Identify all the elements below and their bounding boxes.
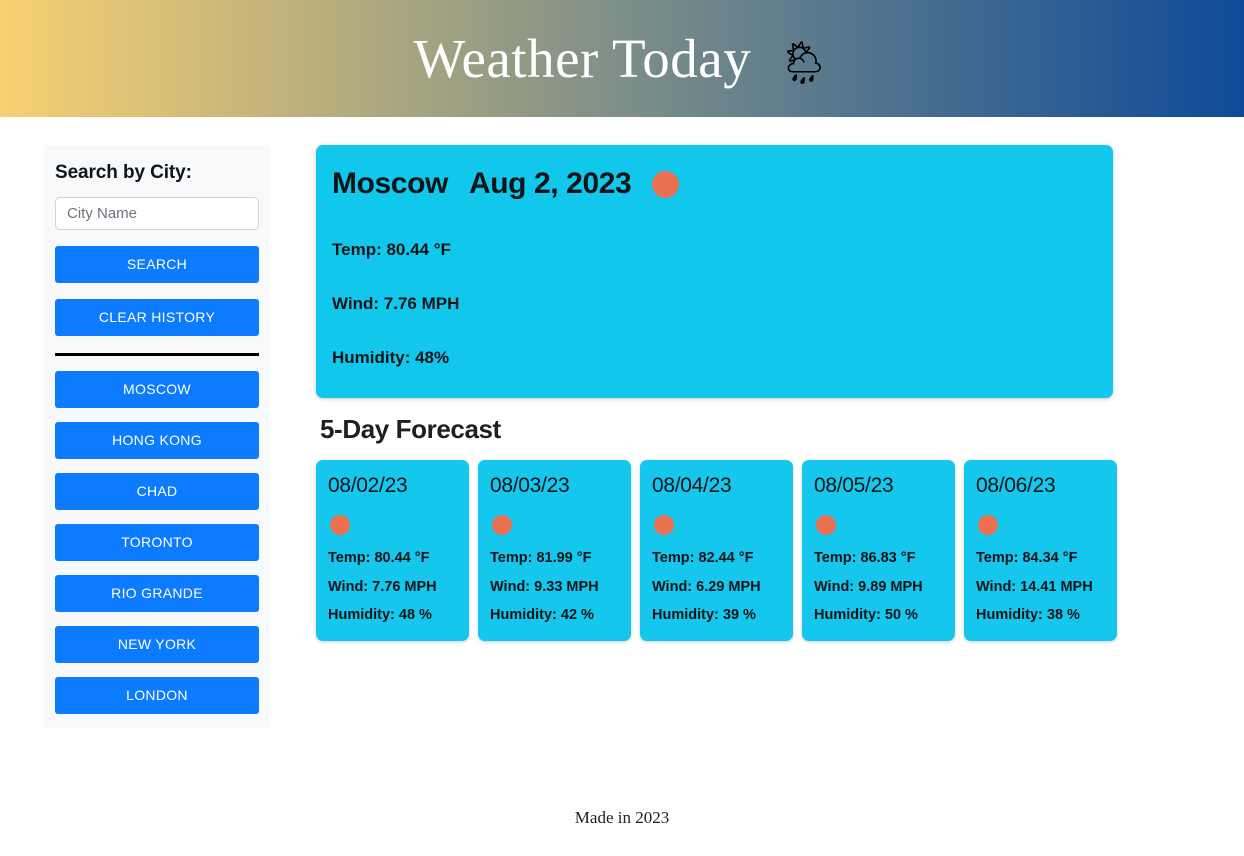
current-weather-headline: Moscow Aug 2, 2023 bbox=[332, 167, 1097, 201]
current-city-name: Moscow bbox=[332, 167, 448, 201]
forecast-card-day-4: 08/05/23 Temp: 86.83 °F Wind: 9.89 MPH H… bbox=[802, 460, 955, 641]
forecast-date: 08/02/23 bbox=[328, 474, 457, 498]
history-item-rio-grande[interactable]: RIO GRANDE bbox=[55, 575, 259, 612]
main-content: Moscow Aug 2, 2023 Temp: 80.44 °F Wind: … bbox=[316, 145, 1113, 641]
current-temperature: Temp: 80.44 °F bbox=[332, 201, 1097, 260]
history-item-toronto[interactable]: TORONTO bbox=[55, 524, 259, 561]
history-item-moscow[interactable]: MOSCOW bbox=[55, 371, 259, 408]
forecast-temperature: Temp: 82.44 °F bbox=[652, 550, 781, 568]
forecast-date: 08/06/23 bbox=[976, 474, 1105, 498]
current-humidity: Humidity: 48% bbox=[332, 314, 1097, 368]
weather-condition-icon bbox=[654, 515, 674, 535]
history-item-chad[interactable]: CHAD bbox=[55, 473, 259, 510]
history-divider bbox=[55, 353, 259, 356]
history-item-hong-kong[interactable]: HONG KONG bbox=[55, 422, 259, 459]
forecast-card-day-1: 08/02/23 Temp: 80.44 °F Wind: 7.76 MPH H… bbox=[316, 460, 469, 641]
forecast-humidity: Humidity: 38 % bbox=[976, 607, 1105, 625]
search-history-list: MOSCOW HONG KONG CHAD TORONTO RIO GRANDE… bbox=[55, 371, 259, 714]
page-title: Weather Today bbox=[413, 31, 751, 86]
forecast-wind: Wind: 9.33 MPH bbox=[490, 579, 619, 597]
weather-condition-icon bbox=[330, 515, 350, 535]
forecast-icon-wrap bbox=[328, 506, 457, 550]
forecast-card-day-3: 08/04/23 Temp: 82.44 °F Wind: 6.29 MPH H… bbox=[640, 460, 793, 641]
forecast-humidity: Humidity: 42 % bbox=[490, 607, 619, 625]
forecast-card-day-5: 08/06/23 Temp: 84.34 °F Wind: 14.41 MPH … bbox=[964, 460, 1117, 641]
forecast-temperature: Temp: 86.83 °F bbox=[814, 550, 943, 568]
sidebar-heading: Search by City: bbox=[55, 162, 259, 184]
weather-condition-icon bbox=[652, 171, 679, 198]
search-sidebar: Search by City: SEARCH CLEAR HISTORY MOS… bbox=[44, 145, 270, 728]
history-item-london[interactable]: LONDON bbox=[55, 677, 259, 714]
sun-behind-rain-cloud-icon: 🌦 bbox=[777, 42, 830, 84]
forecast-row: 08/02/23 Temp: 80.44 °F Wind: 7.76 MPH H… bbox=[316, 460, 1113, 641]
forecast-temperature: Temp: 80.44 °F bbox=[328, 550, 457, 568]
forecast-icon-wrap bbox=[652, 506, 781, 550]
forecast-card-day-2: 08/03/23 Temp: 81.99 °F Wind: 9.33 MPH H… bbox=[478, 460, 631, 641]
forecast-icon-wrap bbox=[976, 506, 1105, 550]
forecast-wind: Wind: 9.89 MPH bbox=[814, 579, 943, 597]
current-weather-card: Moscow Aug 2, 2023 Temp: 80.44 °F Wind: … bbox=[316, 145, 1113, 398]
page-footer: Made in 2023 bbox=[0, 808, 1244, 828]
forecast-date: 08/04/23 bbox=[652, 474, 781, 498]
current-wind: Wind: 7.76 MPH bbox=[332, 260, 1097, 314]
weather-condition-icon bbox=[978, 515, 998, 535]
weather-condition-icon bbox=[492, 515, 512, 535]
forecast-humidity: Humidity: 48 % bbox=[328, 607, 457, 625]
forecast-temperature: Temp: 84.34 °F bbox=[976, 550, 1105, 568]
app-header: Weather Today 🌦 bbox=[0, 0, 1244, 117]
search-input[interactable] bbox=[55, 197, 259, 230]
forecast-humidity: Humidity: 50 % bbox=[814, 607, 943, 625]
forecast-icon-wrap bbox=[814, 506, 943, 550]
forecast-date: 08/05/23 bbox=[814, 474, 943, 498]
forecast-temperature: Temp: 81.99 °F bbox=[490, 550, 619, 568]
current-date: Aug 2, 2023 bbox=[469, 167, 631, 201]
page-body: Search by City: SEARCH CLEAR HISTORY MOS… bbox=[0, 117, 1244, 728]
forecast-date: 08/03/23 bbox=[490, 474, 619, 498]
forecast-humidity: Humidity: 39 % bbox=[652, 607, 781, 625]
history-item-new-york[interactable]: NEW YORK bbox=[55, 626, 259, 663]
forecast-icon-wrap bbox=[490, 506, 619, 550]
clear-history-button[interactable]: CLEAR HISTORY bbox=[55, 299, 259, 336]
forecast-wind: Wind: 6.29 MPH bbox=[652, 579, 781, 597]
search-button[interactable]: SEARCH bbox=[55, 246, 259, 283]
forecast-wind: Wind: 14.41 MPH bbox=[976, 579, 1105, 597]
forecast-wind: Wind: 7.76 MPH bbox=[328, 579, 457, 597]
weather-condition-icon bbox=[816, 515, 836, 535]
forecast-heading: 5-Day Forecast bbox=[320, 414, 1113, 445]
